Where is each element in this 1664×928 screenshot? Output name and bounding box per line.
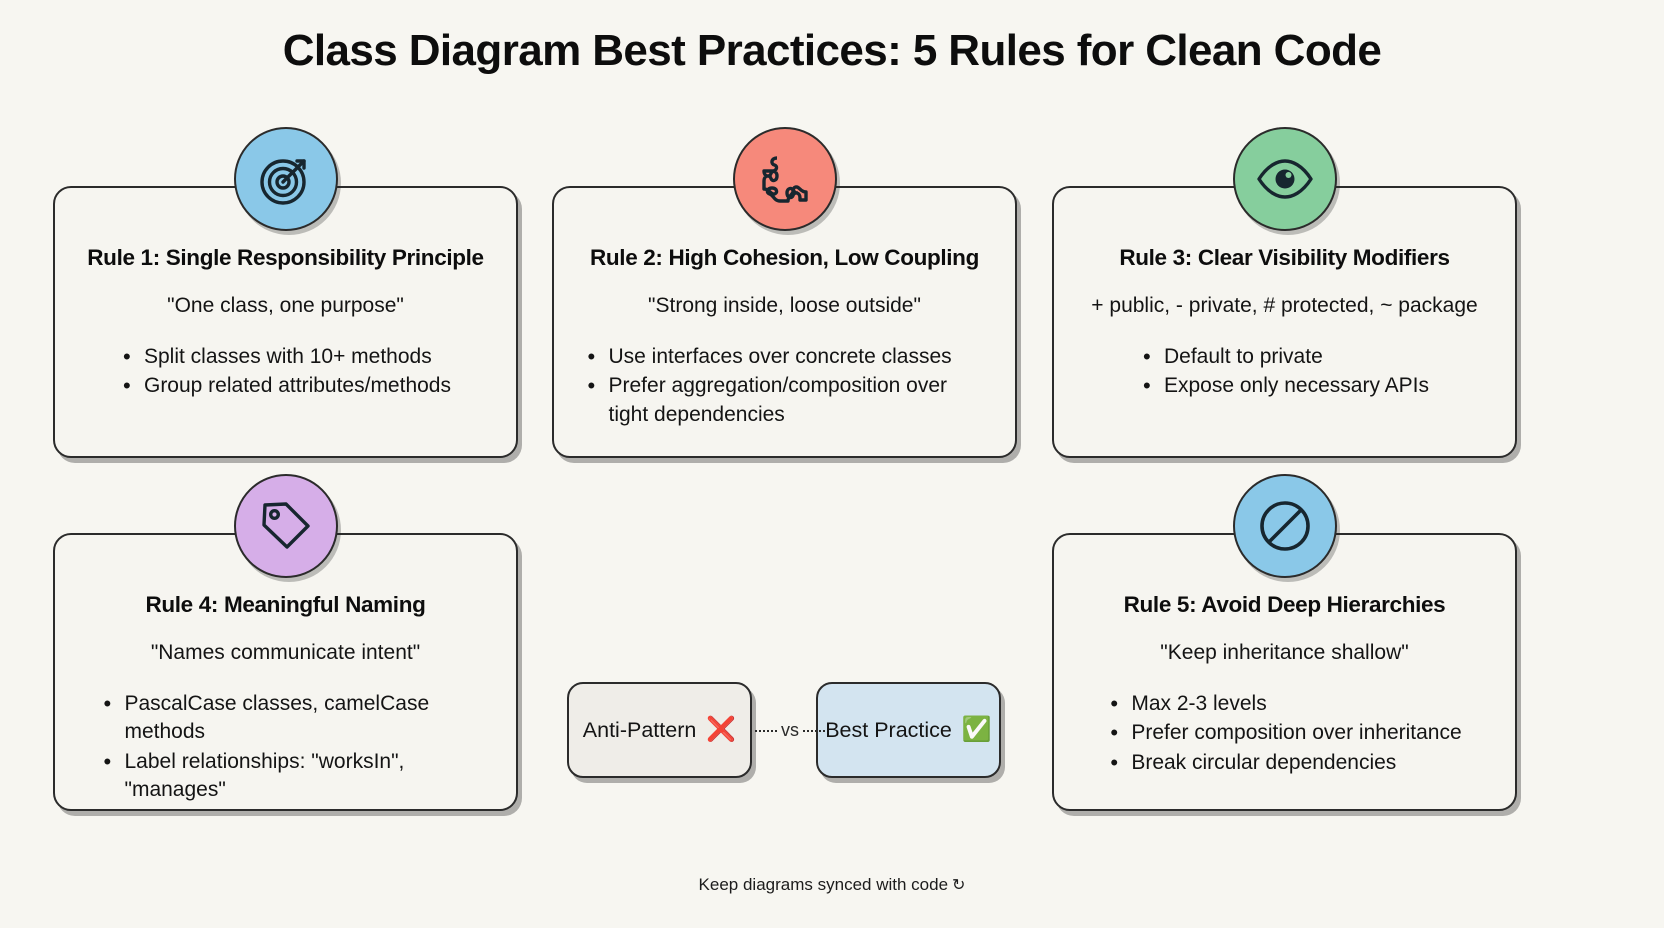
rule-card-2-title: Rule 2: High Cohesion, Low Coupling — [576, 244, 993, 271]
rule-card-3-bullets: Default to private Expose only necessary… — [1140, 343, 1429, 401]
footer-note: Keep diagrams synced with code↻ — [0, 875, 1664, 895]
cross-mark-icon: ❌ — [706, 718, 736, 742]
anti-pattern-label: Anti-Pattern — [583, 718, 697, 743]
rule-card-5-subtitle: "Keep inheritance shallow" — [1076, 640, 1493, 666]
rule-card-1-subtitle: "One class, one purpose" — [77, 293, 494, 319]
list-item: Prefer composition over inheritance — [1107, 719, 1461, 747]
list-item: Split classes with 10+ methods — [120, 343, 451, 371]
prohibited-icon-badge — [1233, 474, 1337, 578]
rule-card-1-title: Rule 1: Single Responsibility Principle — [77, 244, 494, 271]
connector-dash-left — [755, 730, 777, 732]
list-item: PascalCase classes, camelCase methods — [101, 690, 471, 746]
puzzle-piece-icon — [757, 151, 813, 207]
rule-card-5-title: Rule 5: Avoid Deep Hierarchies — [1076, 591, 1493, 618]
list-item: Expose only necessary APIs — [1140, 372, 1429, 400]
list-item: Prefer aggregation/composition over tigh… — [585, 372, 985, 428]
connector-dash-right — [803, 730, 825, 732]
list-item: Break circular dependencies — [1107, 749, 1461, 777]
page-title: Class Diagram Best Practices: 5 Rules fo… — [0, 26, 1664, 76]
rule-card-4-subtitle: "Names communicate intent" — [77, 640, 494, 666]
vs-label: vs — [781, 720, 799, 741]
target-icon — [257, 150, 315, 208]
target-icon-badge — [234, 127, 338, 231]
rule-card-5-bullets: Max 2-3 levels Prefer composition over i… — [1107, 690, 1461, 777]
check-mark-icon: ✅ — [962, 718, 992, 742]
rule-card-2-bullets: Use interfaces over concrete classes Pre… — [585, 343, 985, 429]
list-item: Label relationships: "worksIn", "manages… — [101, 748, 471, 804]
infographic-canvas: Class Diagram Best Practices: 5 Rules fo… — [0, 0, 1664, 928]
anti-pattern-box: Anti-Pattern ❌ — [567, 682, 752, 778]
eye-icon-badge — [1233, 127, 1337, 231]
puzzle-piece-icon-badge — [733, 127, 837, 231]
rule-card-1-bullets: Split classes with 10+ methods Group rel… — [120, 343, 451, 401]
list-item: Max 2-3 levels — [1107, 690, 1461, 718]
prohibited-icon — [1256, 497, 1314, 555]
sync-icon: ↻ — [952, 877, 965, 894]
list-item: Group related attributes/methods — [120, 372, 451, 400]
best-practice-label: Best Practice — [825, 718, 952, 743]
best-practice-box: Best Practice ✅ — [816, 682, 1001, 778]
list-item: Default to private — [1140, 343, 1429, 371]
rule-card-4-bullets: PascalCase classes, camelCase methods La… — [101, 690, 471, 805]
rule-card-2-subtitle: "Strong inside, loose outside" — [576, 293, 993, 319]
tag-icon — [259, 499, 313, 553]
rule-card-3-subtitle: + public, - private, # protected, ~ pack… — [1076, 293, 1493, 319]
rule-card-4-title: Rule 4: Meaningful Naming — [77, 591, 494, 618]
footer-text: Keep diagrams synced with code — [699, 875, 948, 894]
eye-icon — [1255, 156, 1315, 202]
vs-connector: vs — [755, 720, 825, 741]
rule-card-3-title: Rule 3: Clear Visibility Modifiers — [1076, 244, 1493, 271]
list-item: Use interfaces over concrete classes — [585, 343, 985, 371]
tag-icon-badge — [234, 474, 338, 578]
